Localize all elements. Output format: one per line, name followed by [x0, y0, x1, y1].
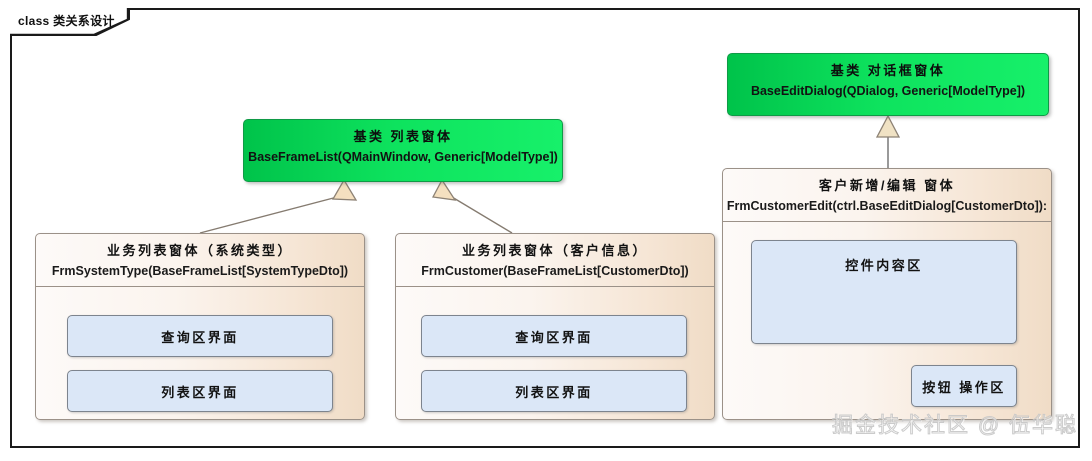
node-frm-system-type-divider	[36, 286, 364, 287]
node-frm-system-type[interactable]: 业务列表窗体（系统类型） FrmSystemType(BaseFrameList…	[35, 233, 365, 420]
subbox-frm-system-type-query-area[interactable]: 查询区界面	[67, 315, 333, 357]
subbox-frm-customer-list-area[interactable]: 列表区界面	[421, 370, 687, 412]
edge-frm-system-type-to-base-frame-list	[200, 180, 356, 233]
uml-frame-tab-label: class 类关系设计	[18, 12, 115, 29]
node-frm-customer[interactable]: 业务列表窗体（客户信息） FrmCustomer(BaseFrameList[C…	[395, 233, 715, 420]
node-frm-customer-edit-signature: FrmCustomerEdit(ctrl.BaseEditDialog[Cust…	[723, 198, 1051, 214]
subbox-frm-customer-query-area[interactable]: 查询区界面	[421, 315, 687, 357]
edge-frm-customer-to-base-frame-list	[433, 180, 512, 233]
node-base-frame-list-title: 基类 列表窗体	[244, 129, 562, 145]
subbox-frm-system-type-list-area[interactable]: 列表区界面	[67, 370, 333, 412]
node-base-edit-dialog-title: 基类 对话框窗体	[728, 63, 1048, 79]
node-frm-customer-divider	[396, 286, 714, 287]
subbox-frm-customer-edit-content-area[interactable]: 控件内容区	[751, 240, 1017, 344]
node-frm-system-type-signature: FrmSystemType(BaseFrameList[SystemTypeDt…	[36, 263, 364, 279]
watermark: 掘金技术社区 @ 伍华聪	[832, 409, 1078, 439]
node-base-frame-list-signature: BaseFrameList(QMainWindow, Generic[Model…	[244, 149, 562, 165]
node-frm-customer-title: 业务列表窗体（客户信息）	[396, 243, 714, 259]
node-frm-customer-edit[interactable]: 客户新增/编辑 窗体 FrmCustomerEdit(ctrl.BaseEdit…	[722, 168, 1052, 420]
diagram-canvas: class 类关系设计 基类 列表窗体 BaseFrameList(QMainW…	[0, 0, 1092, 461]
node-base-edit-dialog[interactable]: 基类 对话框窗体 BaseEditDialog(QDialog, Generic…	[727, 53, 1049, 116]
node-frm-customer-signature: FrmCustomer(BaseFrameList[CustomerDto])	[396, 263, 714, 279]
node-base-edit-dialog-signature: BaseEditDialog(QDialog, Generic[ModelTyp…	[728, 83, 1048, 99]
node-frm-system-type-title: 业务列表窗体（系统类型）	[36, 243, 364, 259]
node-frm-customer-edit-divider	[723, 221, 1051, 222]
subbox-frm-customer-edit-button-area[interactable]: 按钮 操作区	[911, 365, 1017, 407]
edge-frm-customer-edit-to-base-edit-dialog	[877, 116, 899, 168]
node-base-frame-list[interactable]: 基类 列表窗体 BaseFrameList(QMainWindow, Gener…	[243, 119, 563, 182]
node-frm-customer-edit-title: 客户新增/编辑 窗体	[723, 178, 1051, 194]
